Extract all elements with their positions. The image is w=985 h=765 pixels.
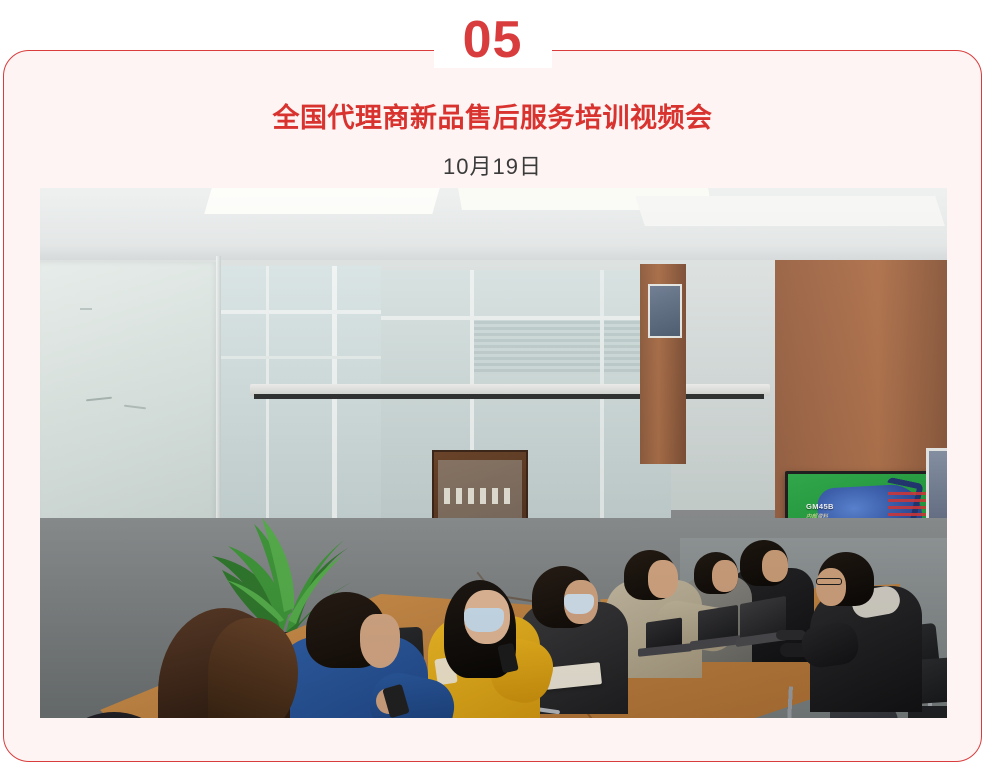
product-model-label: GM45B	[806, 502, 834, 511]
window-blinds	[470, 318, 660, 374]
slide-page: 05 全国代理商新品售后服务培训视频会 10月19日	[0, 0, 985, 765]
attendee-person	[208, 618, 298, 718]
event-date: 10月19日	[0, 152, 985, 182]
window-mullion	[221, 310, 381, 314]
window-mullion	[221, 356, 381, 359]
attendee-person	[712, 560, 738, 592]
framed-poster	[648, 284, 682, 338]
whiteboard-marking	[80, 308, 92, 310]
projector-screen-slot	[254, 394, 764, 399]
eyeglasses-icon	[816, 578, 842, 585]
window-mullion	[600, 270, 604, 538]
attendee-person	[648, 560, 678, 598]
event-photo: GM45B 内部资料 洗地机 全自动洗地机	[40, 188, 947, 718]
attendee-person	[360, 614, 400, 668]
attendee-person	[816, 568, 846, 606]
window-mullion	[381, 316, 671, 320]
page-title: 全国代理商新品售后服务培训视频会	[0, 101, 985, 135]
ceiling-light-icon	[635, 196, 945, 226]
attendee-person	[762, 550, 788, 582]
face-mask	[564, 594, 594, 614]
ceiling-light-icon	[204, 188, 439, 214]
face-mask	[464, 608, 504, 632]
slide-callout-labels	[888, 492, 930, 518]
cabinet-contents	[444, 488, 516, 504]
section-number: 05	[0, 12, 985, 68]
